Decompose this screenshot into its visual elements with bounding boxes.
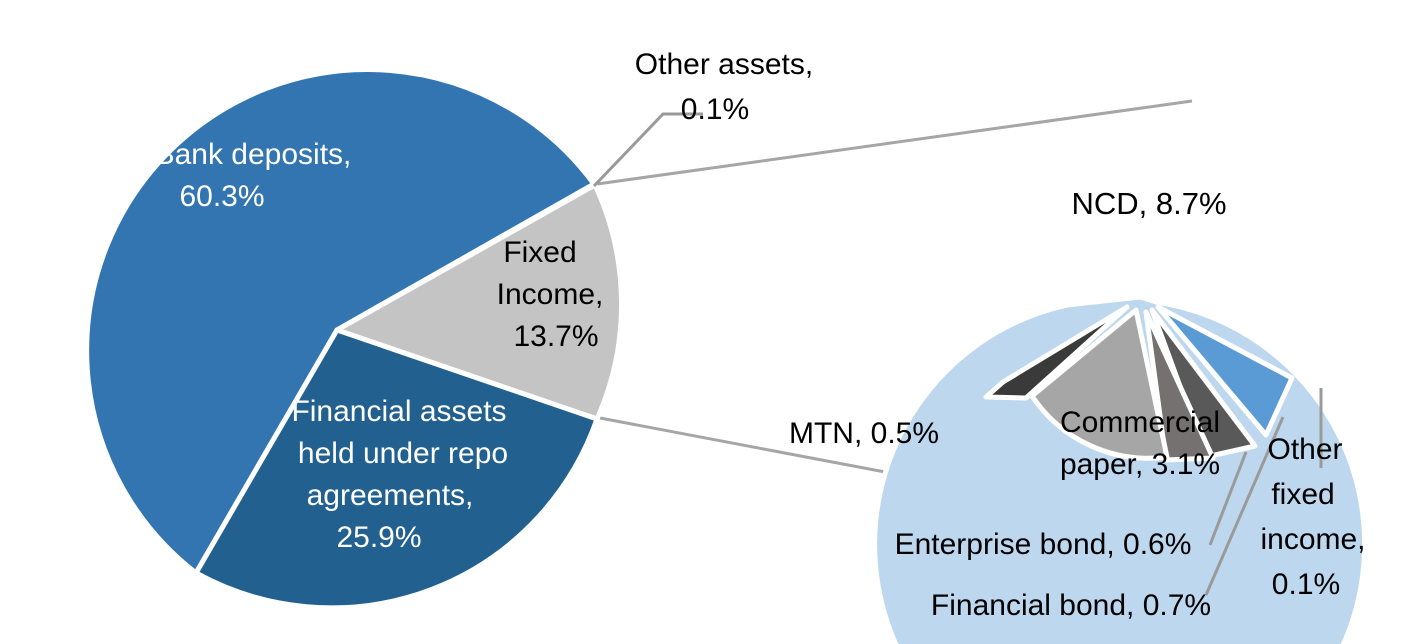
label-enterprise-bond: Enterprise bond, 0.6%: [895, 528, 1192, 561]
label-repo-assets-line3: agreements,: [307, 479, 474, 512]
label-commercial-paper-line1: Commercial: [1060, 406, 1220, 439]
label-other-assets-line1: Other assets,: [635, 48, 813, 81]
label-commercial-paper-line2: paper, 3.1%: [1060, 448, 1220, 481]
label-fixed-income-line3: 13.7%: [513, 320, 598, 353]
label-fixed-income-line2: Income,: [497, 278, 604, 311]
pie-chart-figure: Bank deposits, 60.3% Fixed Income, 13.7%…: [0, 0, 1404, 644]
label-other-fixed-income-line3: income,: [1260, 523, 1365, 556]
label-other-fixed-income-line4: 0.1%: [1272, 568, 1340, 601]
label-bank-deposits-line1: Bank deposits,: [155, 138, 352, 171]
label-bank-deposits-line2: 60.3%: [179, 180, 264, 213]
label-other-assets-line2: 0.1%: [681, 93, 749, 126]
label-repo-assets-line4: 25.9%: [336, 521, 421, 554]
label-other-fixed-income-line2: fixed: [1271, 478, 1334, 511]
label-other-fixed-income-line1: Other: [1267, 433, 1342, 466]
chart-canvas: Bank deposits, 60.3% Fixed Income, 13.7%…: [0, 0, 1404, 644]
label-mtn: MTN, 0.5%: [789, 417, 939, 450]
label-fixed-income-line1: Fixed: [503, 236, 576, 269]
right-pie-group: NCD, 8.7% Other fixed income, 0.1% Finan…: [789, 186, 1366, 644]
label-repo-assets-line1: Financial assets: [291, 395, 506, 428]
label-financial-bond: Financial bond, 0.7%: [931, 589, 1211, 622]
label-repo-assets-line2: held under repo: [298, 437, 508, 470]
left-pie-group: Bank deposits, 60.3% Fixed Income, 13.7%…: [87, 48, 814, 608]
label-ncd: NCD, 8.7%: [1071, 186, 1226, 221]
